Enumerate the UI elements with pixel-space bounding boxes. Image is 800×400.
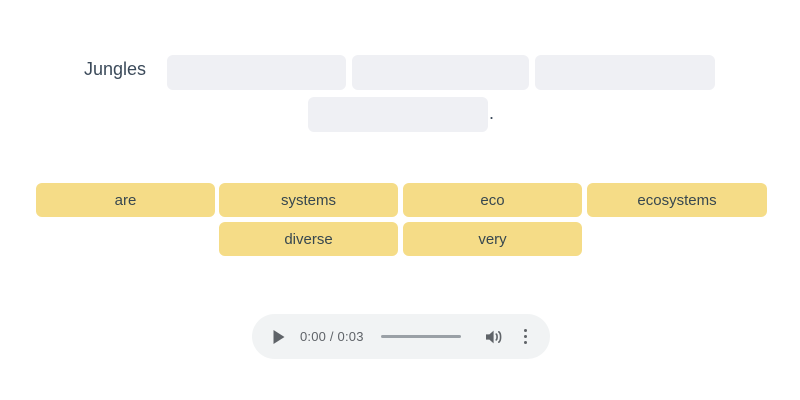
word-tile[interactable]: eco <box>403 183 582 217</box>
audio-time-display: 0:00 / 0:03 <box>300 329 364 344</box>
drop-slot-1[interactable] <box>167 55 346 90</box>
play-icon[interactable] <box>270 328 288 346</box>
menu-dot <box>524 341 527 344</box>
word-tile[interactable]: diverse <box>219 222 398 256</box>
sentence-lead-label: Jungles <box>84 57 146 81</box>
drop-slot-3[interactable] <box>535 55 715 90</box>
sentence-period: . <box>489 101 494 125</box>
audio-progress-track <box>381 335 461 338</box>
audio-player[interactable]: 0:00 / 0:03 <box>252 314 550 359</box>
more-vertical-icon[interactable] <box>514 326 536 348</box>
drop-slot-4[interactable] <box>308 97 488 132</box>
menu-dot <box>524 329 527 332</box>
cloze-sentence-area: Jungles . <box>0 0 800 150</box>
word-tile[interactable]: systems <box>219 183 398 217</box>
audio-progress-slider[interactable] <box>381 329 461 345</box>
volume-high-icon[interactable] <box>483 327 505 347</box>
drop-slot-2[interactable] <box>352 55 529 90</box>
word-tile[interactable]: ecosystems <box>587 183 767 217</box>
word-tile[interactable]: are <box>36 183 215 217</box>
menu-dot <box>524 335 527 338</box>
word-tile[interactable]: very <box>403 222 582 256</box>
